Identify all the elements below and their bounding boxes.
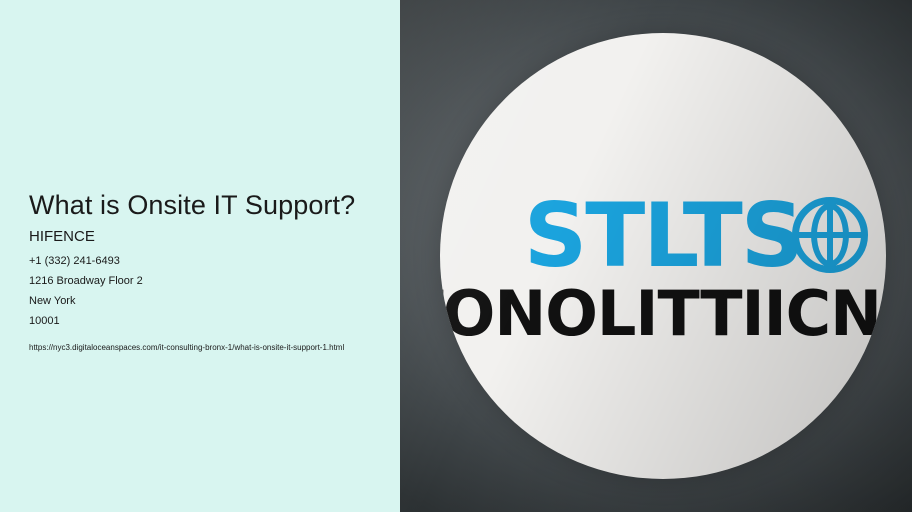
company-name: HIFENCE — [29, 227, 369, 247]
globe-meridian — [811, 203, 849, 267]
right-image-panel: STLT S TONOLITTIICNS — [400, 0, 912, 512]
page-title: What is Onsite IT Support? — [29, 190, 369, 221]
logo-word-bottom: TONOLITTIICNS — [440, 281, 886, 347]
contact-city: New York — [29, 291, 369, 311]
slide: What is Onsite IT Support? HIFENCE +1 (3… — [0, 0, 912, 512]
globe-icon — [792, 197, 868, 273]
left-text-panel: What is Onsite IT Support? HIFENCE +1 (3… — [0, 0, 400, 512]
contact-phone: +1 (332) 241-6493 — [29, 251, 369, 271]
logo-circle: STLT S TONOLITTIICNS — [440, 33, 886, 479]
source-url[interactable]: https://nyc3.digitaloceanspaces.com/it-c… — [29, 339, 359, 356]
contact-street: 1216 Broadway Floor 2 — [29, 271, 369, 291]
logo-top-row: STLT S — [524, 193, 802, 279]
text-block: What is Onsite IT Support? HIFENCE +1 (3… — [29, 190, 369, 356]
logo-word-top: STLT — [524, 193, 741, 279]
contact-zip: 10001 — [29, 311, 369, 331]
